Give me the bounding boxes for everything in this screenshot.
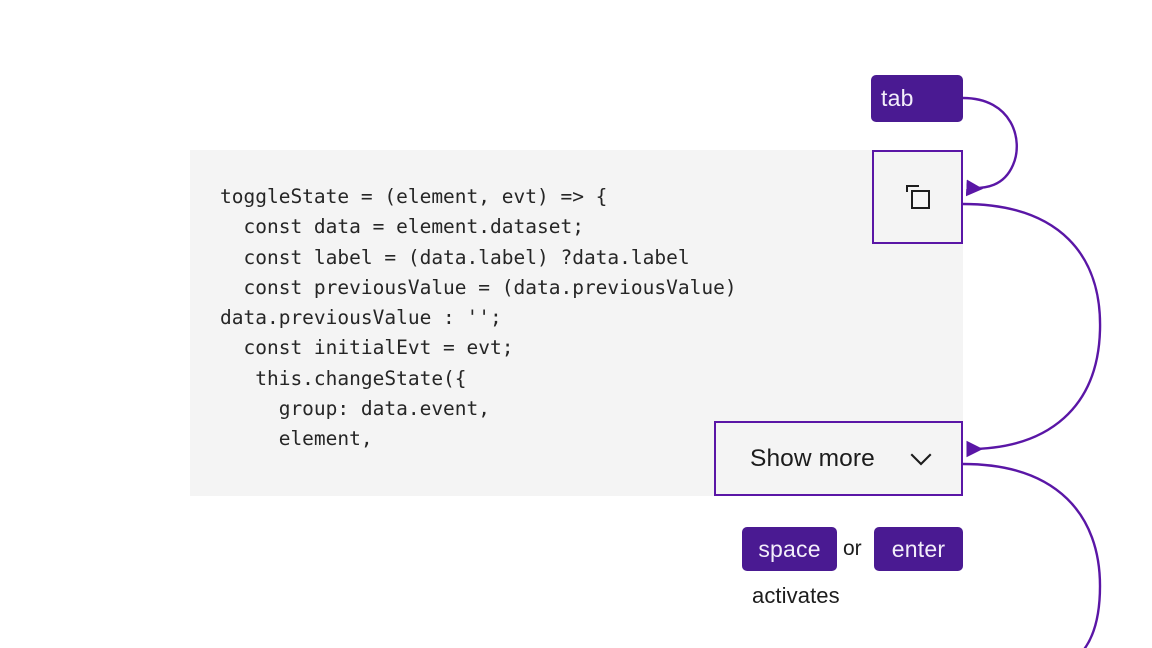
copy-to-show-more-connector <box>963 204 1100 449</box>
chevron-down-icon <box>908 446 934 472</box>
show-more-button[interactable]: Show more <box>714 421 963 496</box>
copy-button[interactable] <box>872 150 963 244</box>
diagram-canvas: toggleState = (element, evt) => { const … <box>0 0 1152 648</box>
code-snippet-text: toggleState = (element, evt) => { const … <box>220 182 935 455</box>
tab-to-copy-connector <box>963 98 1017 188</box>
activates-label: activates <box>752 583 840 609</box>
enter-key-badge: enter <box>874 527 963 571</box>
show-more-outgoing-connector <box>963 464 1100 648</box>
tab-key-badge: tab <box>871 75 963 122</box>
space-key-badge: space <box>742 527 837 571</box>
show-more-label: Show more <box>750 445 875 473</box>
copy-icon <box>904 183 932 211</box>
or-conjunction-label: or <box>843 537 862 561</box>
